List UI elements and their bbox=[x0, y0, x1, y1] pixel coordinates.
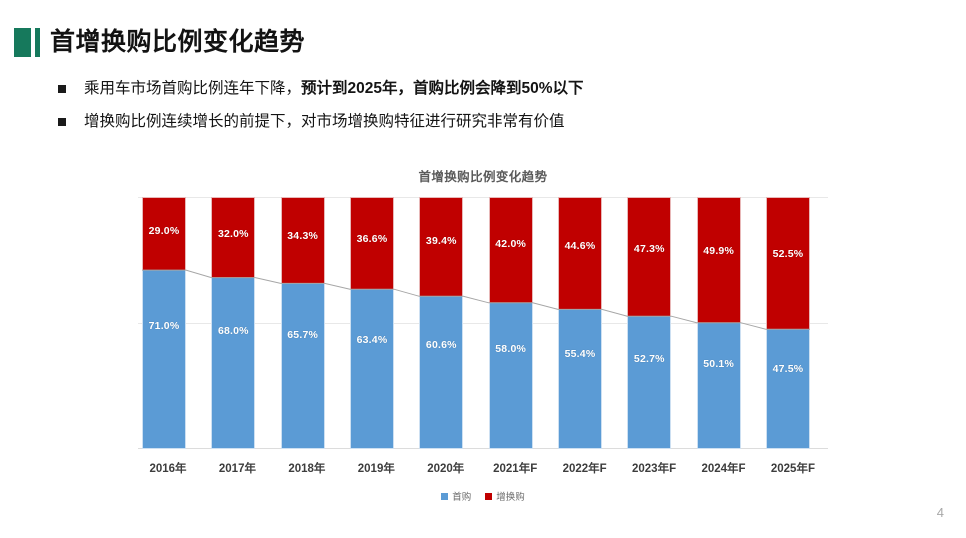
bar-label-first-purchase: 63.4% bbox=[351, 334, 393, 346]
bar-group: 29.0%71.0%32.0%68.0%34.3%65.7%36.6%63.4%… bbox=[142, 197, 810, 449]
chart-container: 首增换购比例变化趋势 29.0%71.0%32.0%68.0%34.3%65.7… bbox=[122, 166, 844, 506]
title-accent-thick-bar bbox=[14, 28, 31, 57]
bar-segment-first-purchase: 63.4% bbox=[350, 289, 394, 449]
bar-label-first-purchase: 65.7% bbox=[282, 329, 324, 341]
bar-segment-replacement-purchase: 49.9% bbox=[697, 197, 741, 323]
chart-title: 首增换购比例变化趋势 bbox=[122, 166, 844, 185]
bar-segment-replacement-purchase: 52.5% bbox=[766, 197, 810, 329]
bar-segment-first-purchase: 68.0% bbox=[211, 278, 255, 449]
title-accent-thin-bar bbox=[35, 28, 40, 57]
bar-segment-replacement-purchase: 39.4% bbox=[419, 197, 463, 296]
bar-column: 52.5%47.5% bbox=[766, 197, 810, 449]
bar-segment-first-purchase: 65.7% bbox=[281, 283, 325, 449]
bar-label-replacement-purchase: 32.0% bbox=[212, 228, 254, 240]
bar-segment-first-purchase: 47.5% bbox=[766, 329, 810, 449]
chart-plot-area: 29.0%71.0%32.0%68.0%34.3%65.7%36.6%63.4%… bbox=[138, 197, 828, 449]
bar-label-replacement-purchase: 44.6% bbox=[559, 240, 601, 252]
bar-label-first-purchase: 60.6% bbox=[420, 339, 462, 351]
x-axis-tick-label: 2018年 bbox=[276, 460, 338, 476]
bar-label-replacement-purchase: 47.3% bbox=[628, 243, 670, 255]
bar-label-replacement-purchase: 52.5% bbox=[767, 248, 809, 260]
bar-column: 34.3%65.7% bbox=[281, 197, 325, 449]
bar-segment-replacement-purchase: 32.0% bbox=[211, 197, 255, 278]
bullet-text-1-bold: 预计到2025年，首购比例会降到50%以下 bbox=[301, 80, 584, 97]
bar-segment-replacement-purchase: 47.3% bbox=[627, 197, 671, 316]
chart-legend: 首购增换购 bbox=[122, 489, 844, 503]
list-item: 乘用车市场首购比例连年下降，预计到2025年，首购比例会降到50%以下 bbox=[58, 78, 898, 100]
bar-label-first-purchase: 52.7% bbox=[628, 353, 670, 365]
bullet-text-2-normal: 增换购比例连续增长的前提下，对市场增换购特征进行研究非常有价值 bbox=[84, 113, 565, 130]
bar-column: 29.0%71.0% bbox=[142, 197, 186, 449]
x-axis-tick-label: 2017年 bbox=[206, 460, 268, 476]
x-axis-tick-labels: 2016年2017年2018年2019年2020年2021年F2022年F202… bbox=[138, 460, 828, 476]
bar-segment-first-purchase: 50.1% bbox=[697, 323, 741, 449]
bar-segment-first-purchase: 58.0% bbox=[489, 303, 533, 449]
x-axis-tick-label: 2016年 bbox=[137, 460, 199, 476]
bar-segment-first-purchase: 71.0% bbox=[142, 270, 186, 449]
legend-label: 首购 bbox=[452, 489, 471, 503]
bar-column: 44.6%55.4% bbox=[558, 197, 602, 449]
bar-label-first-purchase: 50.1% bbox=[698, 358, 740, 370]
bullet-square-icon bbox=[58, 85, 66, 93]
x-axis-tick-label: 2019年 bbox=[345, 460, 407, 476]
legend-label: 增换购 bbox=[496, 489, 525, 503]
bar-column: 47.3%52.7% bbox=[627, 197, 671, 449]
bar-column: 42.0%58.0% bbox=[489, 197, 533, 449]
x-axis-tick-label: 2025年F bbox=[762, 460, 824, 476]
bar-segment-first-purchase: 52.7% bbox=[627, 316, 671, 449]
x-axis-tick-label: 2021年F bbox=[484, 460, 546, 476]
bar-label-replacement-purchase: 39.4% bbox=[420, 235, 462, 247]
bar-column: 49.9%50.1% bbox=[697, 197, 741, 449]
bar-label-replacement-purchase: 34.3% bbox=[282, 230, 324, 242]
bar-segment-first-purchase: 55.4% bbox=[558, 309, 602, 449]
bar-label-first-purchase: 47.5% bbox=[767, 363, 809, 375]
bar-segment-replacement-purchase: 29.0% bbox=[142, 197, 186, 270]
bar-label-first-purchase: 58.0% bbox=[490, 343, 532, 355]
bar-label-replacement-purchase: 29.0% bbox=[143, 225, 185, 237]
bar-label-replacement-purchase: 36.6% bbox=[351, 233, 393, 245]
bar-segment-replacement-purchase: 44.6% bbox=[558, 197, 602, 309]
legend-item-replacement-purchase[interactable]: 增换购 bbox=[485, 489, 525, 503]
bar-column: 39.4%60.6% bbox=[419, 197, 463, 449]
legend-swatch-icon bbox=[485, 493, 492, 500]
x-axis-tick-label: 2023年F bbox=[623, 460, 685, 476]
page-number: 4 bbox=[937, 505, 944, 520]
bullet-list: 乘用车市场首购比例连年下降，预计到2025年，首购比例会降到50%以下 增换购比… bbox=[58, 78, 898, 144]
bar-label-replacement-purchase: 42.0% bbox=[490, 238, 532, 250]
bullet-text-1: 乘用车市场首购比例连年下降，预计到2025年，首购比例会降到50%以下 bbox=[84, 78, 584, 100]
bullet-text-1-normal: 乘用车市场首购比例连年下降， bbox=[84, 80, 301, 97]
bar-segment-replacement-purchase: 42.0% bbox=[489, 197, 533, 303]
x-axis-tick-label: 2020年 bbox=[415, 460, 477, 476]
x-axis-tick-label: 2022年F bbox=[554, 460, 616, 476]
bar-label-first-purchase: 68.0% bbox=[212, 325, 254, 337]
page-title: 首增换购比例变化趋势 bbox=[50, 28, 305, 57]
bar-segment-replacement-purchase: 36.6% bbox=[350, 197, 394, 289]
list-item: 增换购比例连续增长的前提下，对市场增换购特征进行研究非常有价值 bbox=[58, 111, 898, 133]
bar-label-first-purchase: 55.4% bbox=[559, 348, 601, 360]
legend-item-first-purchase[interactable]: 首购 bbox=[441, 489, 471, 503]
bullet-text-2: 增换购比例连续增长的前提下，对市场增换购特征进行研究非常有价值 bbox=[84, 111, 565, 133]
x-axis-tick-label: 2024年F bbox=[693, 460, 755, 476]
legend-swatch-icon bbox=[441, 493, 448, 500]
bar-segment-replacement-purchase: 34.3% bbox=[281, 197, 325, 283]
bar-label-replacement-purchase: 49.9% bbox=[698, 245, 740, 257]
slide-title-block: 首增换购比例变化趋势 bbox=[14, 27, 305, 57]
bar-segment-first-purchase: 60.6% bbox=[419, 296, 463, 449]
bar-label-first-purchase: 71.0% bbox=[143, 320, 185, 332]
bar-column: 36.6%63.4% bbox=[350, 197, 394, 449]
bullet-square-icon bbox=[58, 118, 66, 126]
bar-column: 32.0%68.0% bbox=[211, 197, 255, 449]
